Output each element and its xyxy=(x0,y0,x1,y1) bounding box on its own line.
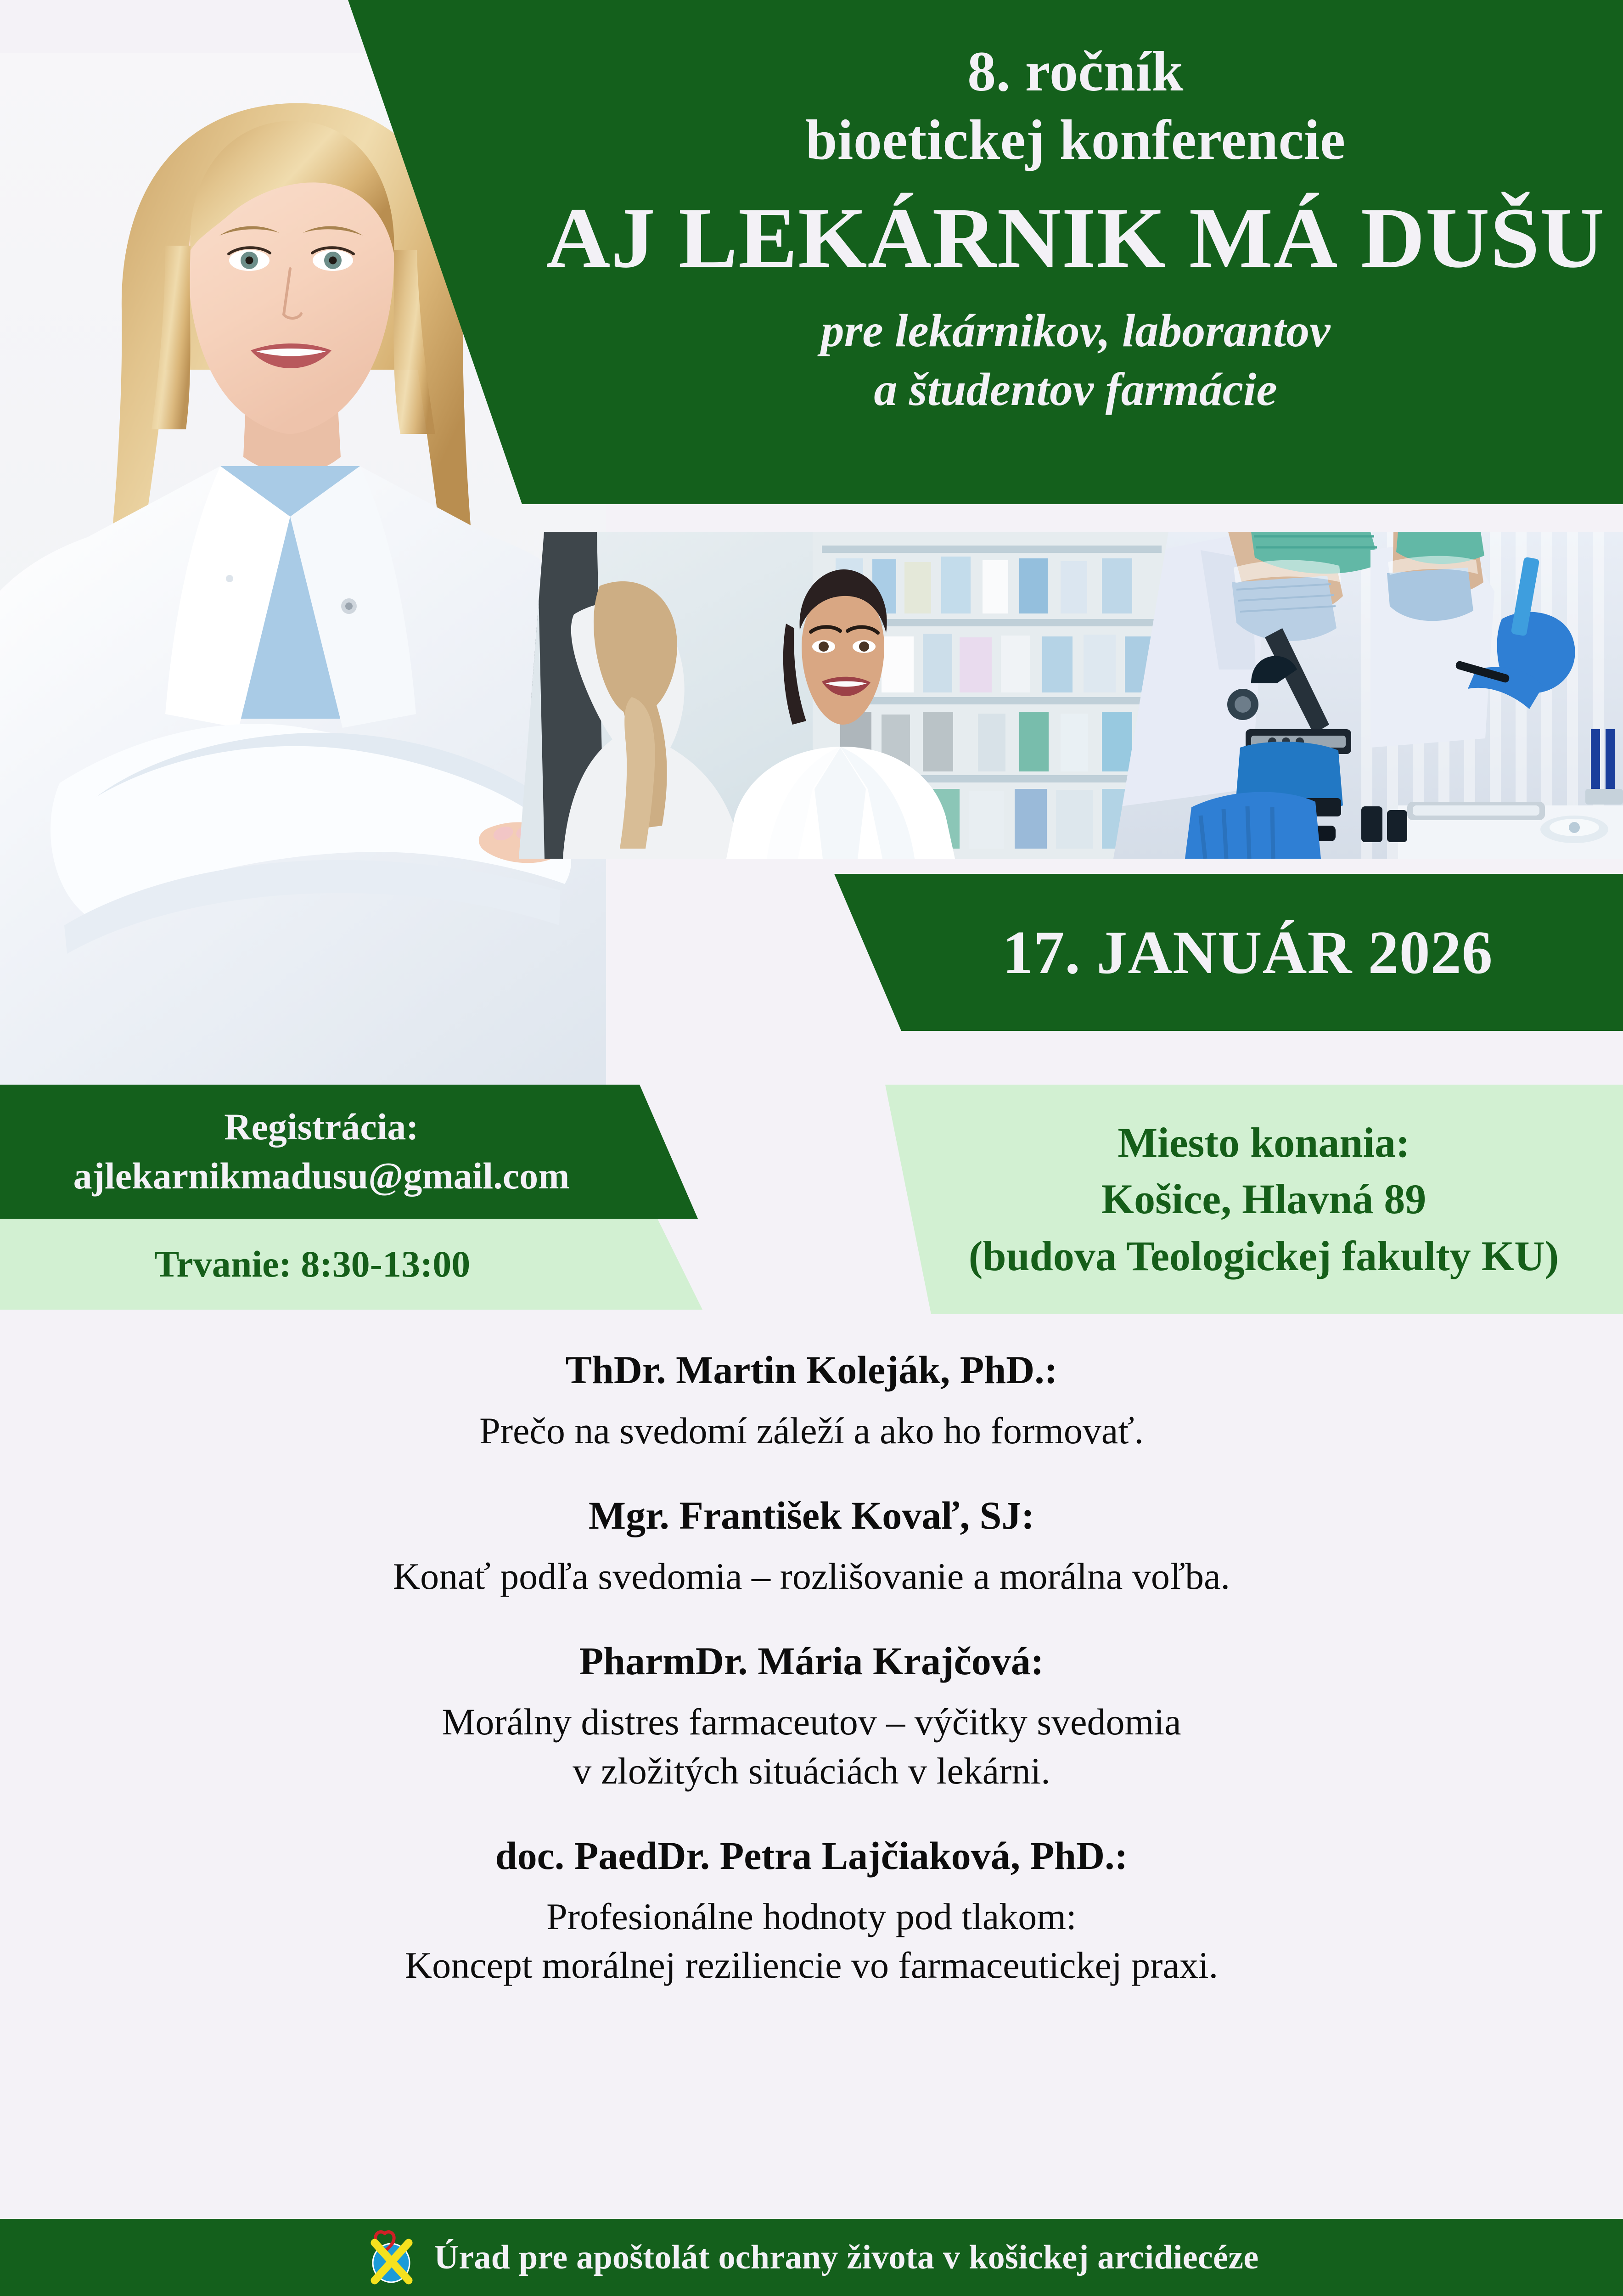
photo-lab-technicians-microscope xyxy=(1113,532,1623,859)
header-text-block: 8. ročník bioetickej konferencie AJ LEKÁ… xyxy=(528,0,1623,504)
poster-title: AJ LEKÁRNIK MÁ DUŠU xyxy=(546,192,1605,283)
talk-title-line: Konať podľa svedomia – rozlišovanie a mo… xyxy=(83,1552,1540,1601)
programme-item: Mgr. František Kovaľ, SJ: Konať podľa sv… xyxy=(83,1491,1540,1601)
apostolate-saltire-heart-icon xyxy=(365,2229,418,2286)
speaker-name: ThDr. Martin Koleják, PhD.: xyxy=(83,1345,1540,1395)
programme-item: PharmDr. Mária Krajčová: Morálny distres… xyxy=(83,1637,1540,1795)
duration-box: Trvanie: 8:30-13:00 xyxy=(0,1219,702,1310)
registration-label: Registrácia: xyxy=(73,1103,570,1152)
programme-list: ThDr. Martin Koleják, PhD.: Prečo na sve… xyxy=(83,1345,1540,1990)
venue-building: (budova Teologickej fakulty KU) xyxy=(969,1228,1559,1284)
talk-title-line: Profesionálne hodnoty pod tlakom: xyxy=(83,1892,1540,1941)
talk-title-line: Morálny distres farmaceutov – výčitky sv… xyxy=(83,1698,1540,1747)
registration-email[interactable]: ajlekarnikmadusu@gmail.com xyxy=(73,1152,570,1201)
conference-poster: 8. ročník bioetickej konferencie AJ LEKÁ… xyxy=(0,0,1623,2296)
organizer-name: Úrad pre apoštolát ochrany života v koši… xyxy=(434,2238,1259,2277)
venue-box: Miesto konania: Košice, Hlavná 89 (budov… xyxy=(863,1085,1623,1314)
venue-label: Miesto konania: xyxy=(969,1114,1559,1171)
registration-box: Registrácia: ajlekarnikmadusu@gmail.com xyxy=(0,1085,698,1219)
date-banner: 17. JANUÁR 2026 xyxy=(822,874,1623,1031)
duration-value: Trvanie: 8:30-13:00 xyxy=(154,1243,549,1286)
event-date: 17. JANUÁR 2026 xyxy=(952,917,1493,988)
talk-title-line: Prečo na svedomí záleží a ako ho formova… xyxy=(83,1407,1540,1456)
venue-address: Košice, Hlavná 89 xyxy=(969,1171,1559,1227)
speaker-name: doc. PaedDr. Petra Lajčiaková, PhD.: xyxy=(83,1831,1540,1880)
speaker-name: Mgr. František Kovaľ, SJ: xyxy=(83,1491,1540,1540)
photo-pharmacist-consulting-customer xyxy=(519,532,1175,859)
header-kicker: 8. ročník bioetickej konferencie xyxy=(805,38,1345,174)
speaker-name: PharmDr. Mária Krajčová: xyxy=(83,1637,1540,1686)
header-kicker-line1: 8. ročník xyxy=(805,38,1345,106)
header-subtitle-line1: pre lekárnikov, laborantov xyxy=(821,302,1331,361)
talk-title-line: Koncept morálnej reziliencie vo farmaceu… xyxy=(83,1941,1540,1990)
programme-item: doc. PaedDr. Petra Lajčiaková, PhD.: Pro… xyxy=(83,1831,1540,1990)
header-subtitle-line2: a študentov farmácie xyxy=(821,360,1331,420)
programme-item: ThDr. Martin Koleják, PhD.: Prečo na sve… xyxy=(83,1345,1540,1455)
footer-bar: Úrad pre apoštolát ochrany života v koši… xyxy=(0,2219,1623,2296)
header-subtitle: pre lekárnikov, laborantov a študentov f… xyxy=(821,302,1331,420)
header-kicker-line2: bioetickej konferencie xyxy=(805,106,1345,174)
talk-title-line: v zložitých situáciách v lekárni. xyxy=(83,1747,1540,1796)
